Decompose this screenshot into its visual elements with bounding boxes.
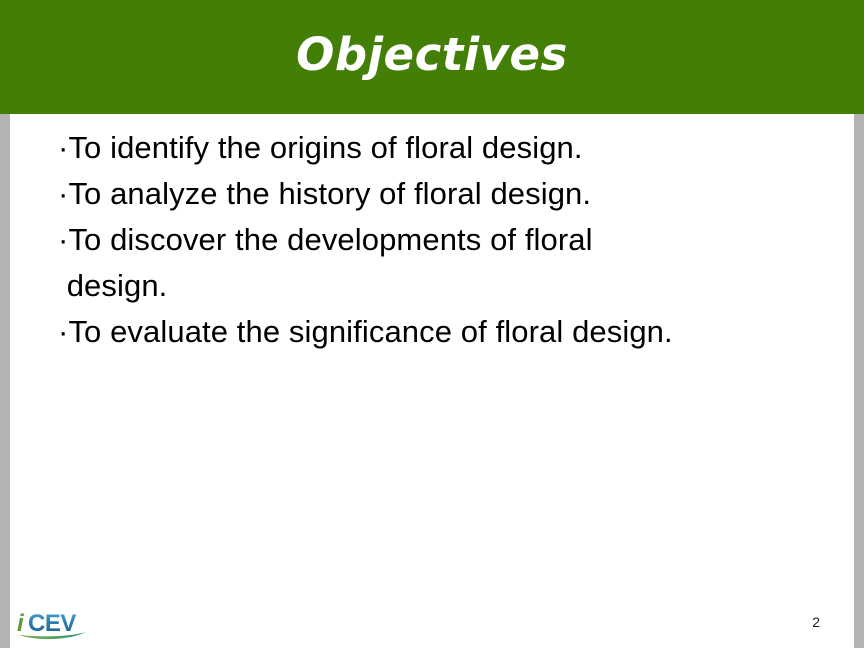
list-item: ·To identify the origins of floral desig… [58,125,828,171]
list-item-label: To analyze the history of floral design. [68,176,591,211]
page-title: Objectives [0,0,864,114]
icev-logo: i CEV [16,606,100,640]
bullet-marker-icon: · [58,314,68,349]
icev-logo-i: i [17,610,25,637]
slide: Objectives ·To identify the origins of f… [0,0,864,648]
list-item: ·To evaluate the significance of floral … [58,309,828,355]
bullet-marker-icon: · [58,222,68,257]
slide-content-area: ·To identify the origins of floral desig… [10,114,854,648]
list-item-label: To evaluate the significance of floral d… [68,314,672,349]
slide-header-bar: Objectives [0,0,864,114]
icev-logo-cev: CEV [28,610,76,637]
list-item: ·To discover the developments of floral … [58,217,828,309]
list-item-label: To identify the origins of floral design… [68,130,582,165]
page-number: 2 [812,614,820,630]
bullet-marker-icon: · [58,176,68,211]
list-item-label: To discover the developments of floral d… [58,222,593,303]
list-item: ·To analyze the history of floral design… [58,171,828,217]
bullet-marker-icon: · [58,130,68,165]
objectives-list: ·To identify the origins of floral desig… [58,125,828,355]
